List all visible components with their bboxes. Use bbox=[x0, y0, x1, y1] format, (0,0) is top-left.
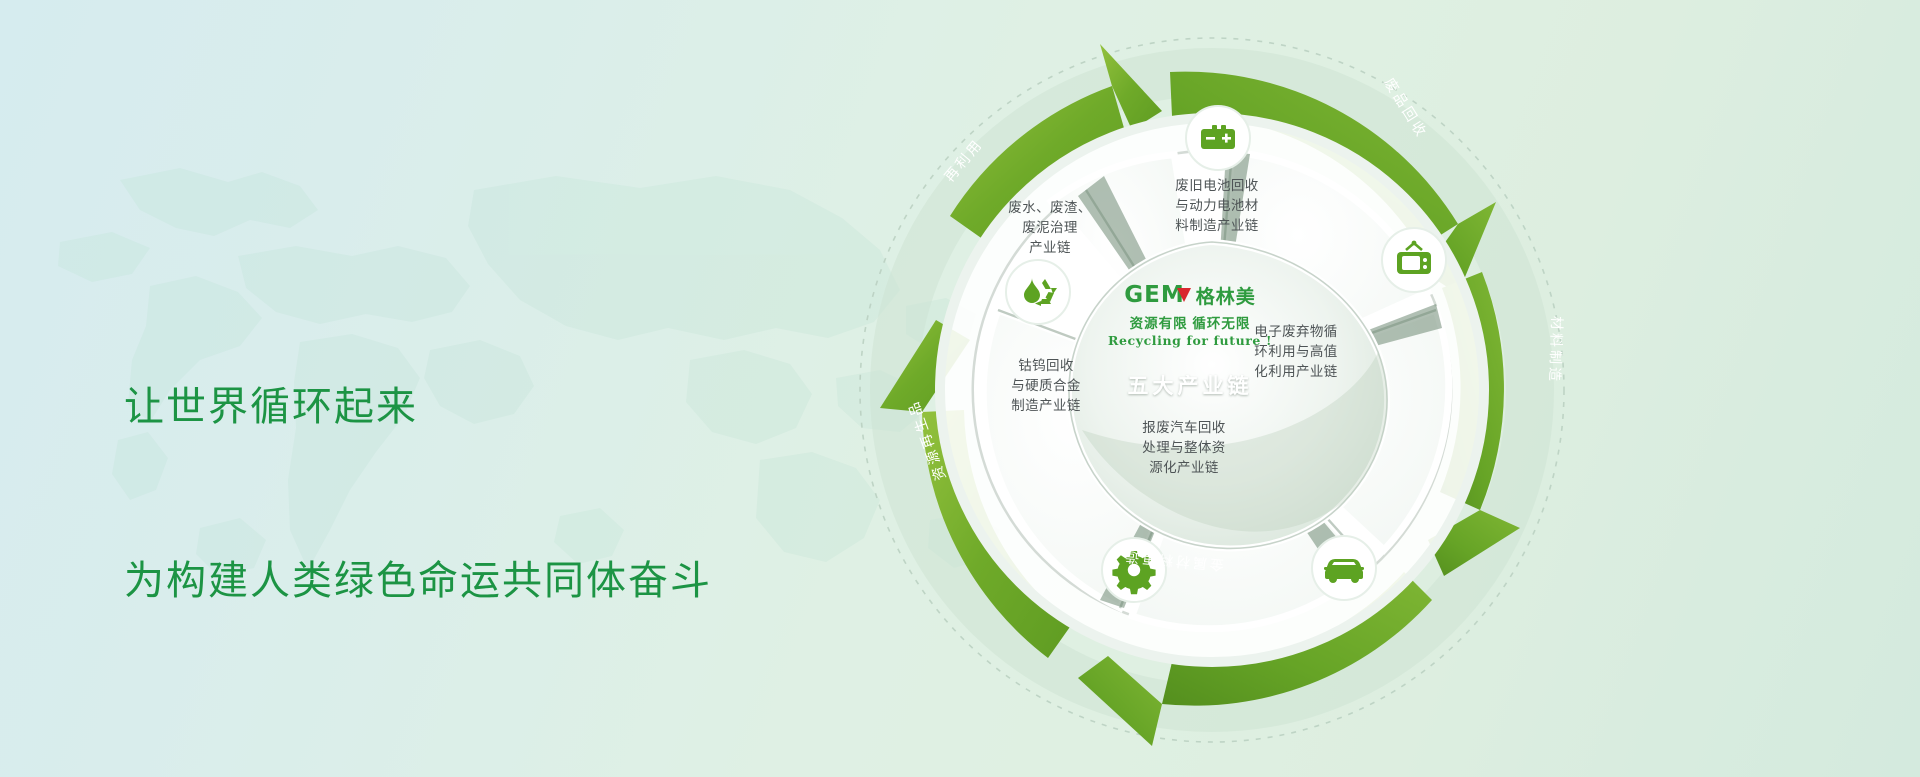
chain-label-scrap-car: 报废汽车回收 处理与整体资 源化产业链 bbox=[1112, 418, 1256, 478]
brand-slogan-en: Recycling for future ! bbox=[1080, 333, 1300, 348]
center-title: 五大产业链 bbox=[1080, 370, 1300, 400]
headline-line-1: 让世界循环起来 bbox=[124, 378, 712, 436]
five-industry-chain-diagram: 再利用 废品回收 材料制造 金属材料再造 资源再生品 废水、废渣、 废泥治理 产… bbox=[832, 10, 1592, 770]
chain-label-waste-water: 废水、废渣、 废泥治理 产业链 bbox=[982, 198, 1118, 258]
gem-logo: GEM 格林美 bbox=[1080, 282, 1300, 309]
banner-stage: 让世界循环起来 为构建人类绿色命运共同体奋斗 bbox=[0, 0, 1920, 777]
arc-label-material-manufacturing: 材料制造 bbox=[1545, 316, 1567, 385]
chain-label-battery: 废旧电池回收 与动力电池材 料制造产业链 bbox=[1145, 176, 1289, 236]
brand-slogan-cn: 资源有限 循环无限 bbox=[1080, 312, 1300, 332]
gem-logo-latin: GEM bbox=[1124, 284, 1184, 307]
page-title: 让世界循环起来 为构建人类绿色命运共同体奋斗 bbox=[124, 262, 712, 726]
gem-logo-chinese: 格林美 bbox=[1196, 282, 1256, 309]
brand-center-block: GEM 格林美 资源有限 循环无限 Recycling for future !… bbox=[1080, 282, 1300, 400]
headline-line-2: 为构建人类绿色命运共同体奋斗 bbox=[124, 552, 712, 610]
gem-logo-red-triangle-icon bbox=[1177, 288, 1191, 302]
